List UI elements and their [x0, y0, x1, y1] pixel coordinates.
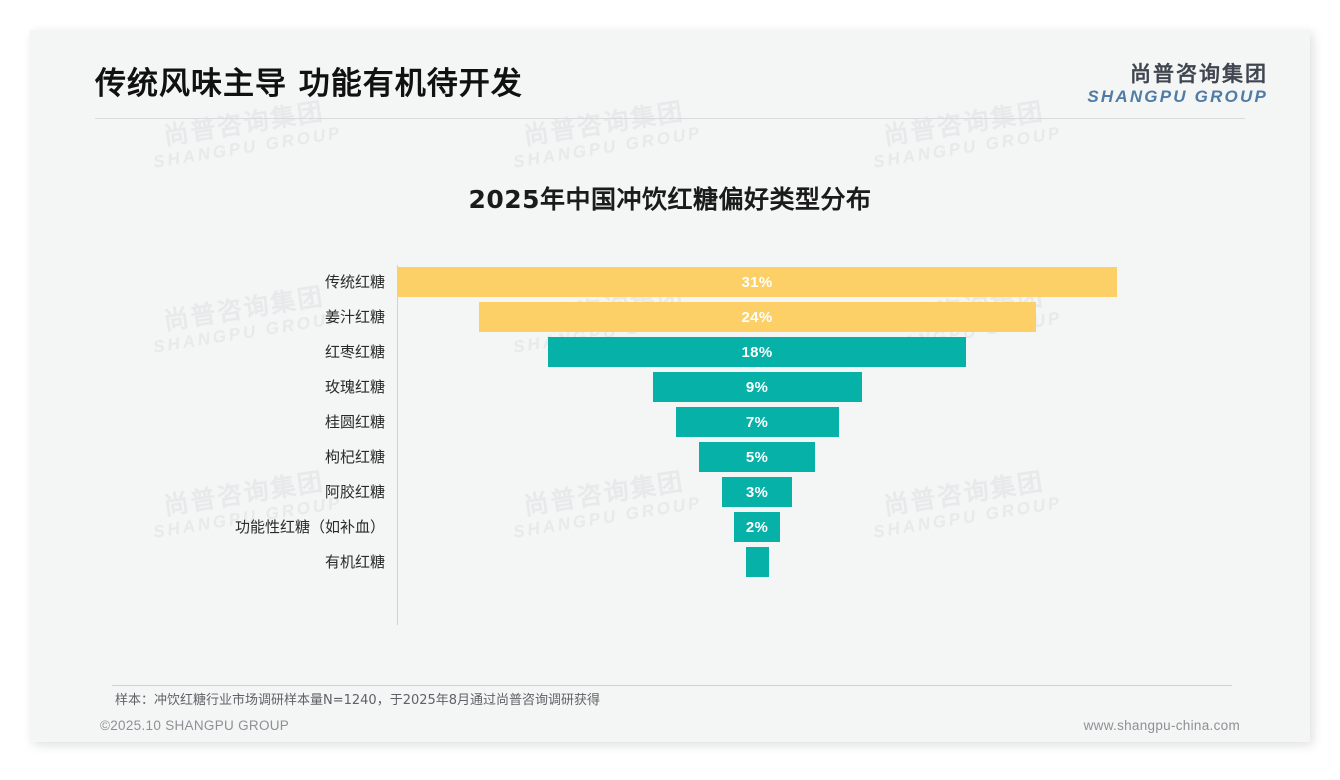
funnel-row: 功能性红糖（如补血）2% [100, 510, 1240, 545]
slide-card: 尚普咨询集团SHANGPU GROUP 尚普咨询集团SHANGPU GROUP … [30, 30, 1310, 742]
slide-header: 传统风味主导 功能有机待开发 尚普咨询集团 SHANGPU GROUP [30, 30, 1310, 118]
bar-value-label: 24% [742, 309, 773, 326]
category-label: 姜汁红糖 [30, 300, 385, 335]
funnel-bar[interactable]: 31% [397, 267, 1117, 297]
bar-value-label: 7% [746, 414, 768, 431]
category-label: 玫瑰红糖 [30, 370, 385, 405]
bar-value-label: 2% [746, 519, 768, 536]
funnel-bar[interactable]: 3% [722, 477, 792, 507]
funnel-row: 玫瑰红糖9% [100, 370, 1240, 405]
chart-title: 2025年中国冲饮红糖偏好类型分布 [30, 180, 1310, 216]
funnel-row: 枸杞红糖5% [100, 440, 1240, 475]
brand-name-cn: 尚普咨询集团 [1087, 62, 1268, 87]
funnel-bar[interactable]: 24% [479, 302, 1036, 332]
category-label: 桂圆红糖 [30, 405, 385, 440]
footer-copyright: ©2025.10 SHANGPU GROUP [100, 718, 289, 733]
funnel-bar[interactable]: 5% [699, 442, 815, 472]
header-divider [95, 118, 1245, 119]
footnote: 样本：冲饮红糖行业市场调研样本量N=1240，于2025年8月通过尚普咨询调研获… [115, 689, 600, 708]
funnel-bar[interactable]: 18% [548, 337, 966, 367]
funnel-row: 红枣红糖18% [100, 335, 1240, 370]
funnel-row: 传统红糖31% [100, 265, 1240, 300]
funnel-bar[interactable]: 9% [653, 372, 862, 402]
category-label: 功能性红糖（如补血） [30, 510, 385, 545]
brand-logo: 尚普咨询集团 SHANGPU GROUP [1087, 62, 1268, 107]
funnel-bar[interactable]: 2% [734, 512, 780, 542]
bar-value-label: 5% [746, 449, 768, 466]
page-title: 传统风味主导 功能有机待开发 [95, 58, 523, 103]
bar-value-label: 31% [742, 274, 773, 291]
bar-value-label: 9% [746, 379, 768, 396]
category-label: 有机红糖 [30, 545, 385, 580]
category-label: 阿胶红糖 [30, 475, 385, 510]
funnel-bar[interactable]: 7% [676, 407, 839, 437]
bar-value-label: 3% [746, 484, 768, 501]
funnel-row: 有机红糖 [100, 545, 1240, 580]
brand-name-en: SHANGPU GROUP [1087, 87, 1268, 107]
category-label: 枸杞红糖 [30, 440, 385, 475]
funnel-chart: 传统红糖31%姜汁红糖24%红枣红糖18%玫瑰红糖9%桂圆红糖7%枸杞红糖5%阿… [100, 265, 1240, 630]
funnel-row: 姜汁红糖24% [100, 300, 1240, 335]
funnel-row: 阿胶红糖3% [100, 475, 1240, 510]
bar-rows: 传统红糖31%姜汁红糖24%红枣红糖18%玫瑰红糖9%桂圆红糖7%枸杞红糖5%阿… [100, 265, 1240, 580]
funnel-row: 桂圆红糖7% [100, 405, 1240, 440]
footnote-divider [112, 685, 1232, 686]
category-label: 红枣红糖 [30, 335, 385, 370]
chart-container: 2025年中国冲饮红糖偏好类型分布 传统红糖31%姜汁红糖24%红枣红糖18%玫… [30, 130, 1310, 650]
bar-value-label: 18% [742, 344, 773, 361]
footer-website[interactable]: www.shangpu-china.com [1084, 718, 1240, 733]
funnel-bar[interactable] [746, 547, 769, 577]
category-label: 传统红糖 [30, 265, 385, 300]
